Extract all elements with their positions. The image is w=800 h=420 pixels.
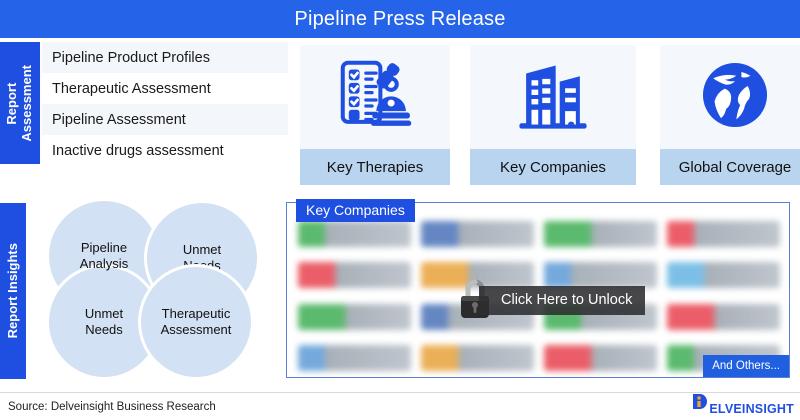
card-key-companies[interactable]: Key Companies	[470, 45, 636, 185]
globe-icon	[694, 54, 776, 141]
card-key-therapies[interactable]: Key Therapies	[300, 45, 450, 185]
venn-diagram: Pipeline Analysis Unmet Needs Unmet Need…	[46, 198, 270, 380]
company-logo	[421, 345, 534, 371]
source-text: Source: Delveinsight Business Research	[0, 401, 216, 413]
company-logo	[298, 304, 411, 330]
page-title: Pipeline Press Release	[294, 8, 505, 31]
company-logo	[667, 221, 780, 247]
report-assessment-list: Pipeline Product Profiles Therapeutic As…	[42, 42, 288, 166]
card-icon-area	[660, 45, 800, 149]
venn-circle-label: Pipeline Analysis	[80, 240, 128, 271]
venn-circle-therapeutic-assessment: Therapeutic Assessment	[138, 264, 254, 380]
card-key-companies-label: Key Companies	[470, 149, 636, 185]
checklist-microscope-icon	[332, 52, 418, 143]
card-icon-area	[470, 45, 636, 149]
list-item-label: Therapeutic Assessment	[52, 81, 211, 97]
and-others-badge[interactable]: And Others...	[703, 355, 789, 377]
delveinsight-logo: ELVEINSIGHT	[692, 392, 794, 416]
buildings-icon	[510, 52, 596, 143]
sidebar-tab-report-insights-label: Report Insights	[6, 243, 21, 338]
press-release-infographic: Pipeline Press Release Report Assessment…	[0, 0, 800, 420]
list-item[interactable]: Inactive drugs assessment	[42, 135, 288, 166]
page-footer: Source: Delveinsight Business Research	[0, 392, 800, 420]
page-header: Pipeline Press Release	[0, 0, 800, 38]
list-item[interactable]: Pipeline Product Profiles	[42, 42, 288, 73]
card-key-therapies-label: Key Therapies	[300, 149, 450, 185]
venn-circle-label: Therapeutic Assessment	[161, 306, 232, 337]
card-icon-area	[300, 45, 450, 149]
company-logo	[298, 345, 411, 371]
company-logo	[298, 262, 411, 288]
card-global-coverage-label: Global Coverage	[660, 149, 800, 185]
list-item-label: Pipeline Product Profiles	[52, 50, 210, 66]
delveinsight-wordmark: ELVEINSIGHT	[709, 402, 794, 416]
company-logo	[298, 221, 411, 247]
sidebar-tab-report-assessment-label: Report Assessment	[5, 65, 35, 142]
delveinsight-mark-icon	[692, 392, 709, 416]
company-logo	[544, 221, 657, 247]
unlock-overlay[interactable]: Click Here to Unlock	[455, 276, 645, 325]
list-item[interactable]: Pipeline Assessment	[42, 104, 288, 135]
sidebar-tab-report-assessment[interactable]: Report Assessment	[0, 42, 40, 164]
list-item[interactable]: Therapeutic Assessment	[42, 73, 288, 104]
card-global-coverage[interactable]: Global Coverage	[660, 45, 800, 185]
company-logo	[667, 262, 780, 288]
company-logo	[667, 304, 780, 330]
venn-circle-label: Unmet Needs	[85, 306, 123, 337]
company-logo	[421, 221, 534, 247]
company-logo	[544, 345, 657, 371]
unlock-label[interactable]: Click Here to Unlock	[479, 286, 645, 315]
key-companies-panel-badge: Key Companies	[296, 199, 415, 222]
sidebar-tab-report-insights[interactable]: Report Insights	[0, 203, 26, 379]
list-item-label: Pipeline Assessment	[52, 112, 186, 128]
list-item-label: Inactive drugs assessment	[52, 143, 224, 159]
